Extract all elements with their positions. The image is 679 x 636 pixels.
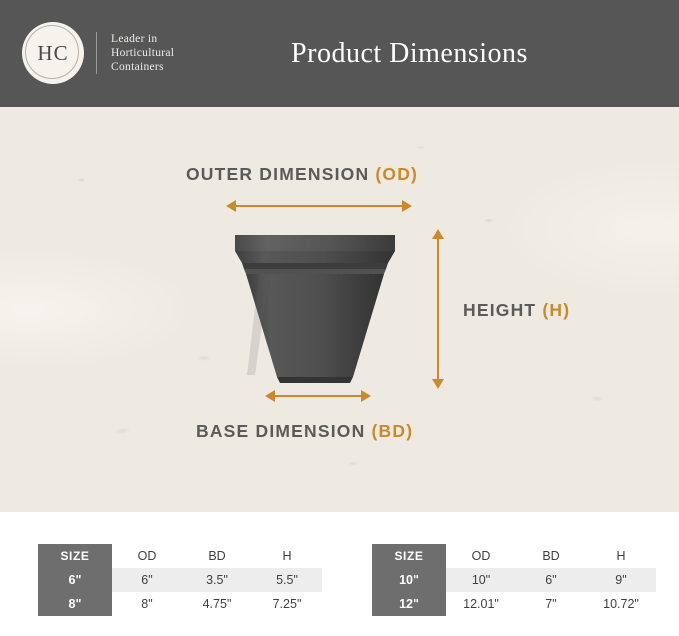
cell-bd: 6": [516, 568, 586, 592]
table-body: 6" 6" 3.5" 5.5" 8" 8" 4.75" 7.25": [38, 568, 322, 616]
header-h: H: [252, 544, 322, 568]
page-title: Product Dimensions: [0, 0, 679, 107]
cell-bd: 3.5": [182, 568, 252, 592]
label-base-dimension: BASE DIMENSION (BD): [196, 421, 413, 442]
label-height-abbr: (H): [542, 300, 570, 320]
cell-h: 9": [586, 568, 656, 592]
arrow-height-icon: [437, 238, 439, 380]
page-header: HC Leader in Horticultural Containers Pr…: [0, 0, 679, 107]
label-base-dimension-abbr: (BD): [372, 421, 414, 441]
table-row: 6" 6" 3.5" 5.5": [38, 568, 322, 592]
cell-size: 12": [372, 592, 446, 616]
table-head: SIZE OD BD H: [372, 544, 656, 568]
label-outer-dimension: OUTER DIMENSION (OD): [186, 164, 418, 185]
header-od: OD: [112, 544, 182, 568]
table-row: 8" 8" 4.75" 7.25": [38, 592, 322, 616]
label-outer-dimension-text: OUTER DIMENSION: [186, 164, 369, 184]
arrow-base-dimension-icon: [274, 395, 362, 397]
cell-size: 10": [372, 568, 446, 592]
dimension-tables: SIZE OD BD H 6" 6" 3.5" 5.5" 8" 8" 4.75": [0, 512, 679, 636]
cell-od: 6": [112, 568, 182, 592]
table-header-row: SIZE OD BD H: [372, 544, 656, 568]
cell-bd: 7": [516, 592, 586, 616]
planter-illustration-icon: [225, 225, 405, 385]
header-od: OD: [446, 544, 516, 568]
label-height: HEIGHT (H): [463, 300, 570, 321]
table-body: 10" 10" 6" 9" 12" 12.01" 7" 10.72": [372, 568, 656, 616]
cell-size: 6": [38, 568, 112, 592]
table-header-row: SIZE OD BD H: [38, 544, 322, 568]
cell-bd: 4.75": [182, 592, 252, 616]
cell-size: 8": [38, 592, 112, 616]
cell-h: 5.5": [252, 568, 322, 592]
arrow-outer-dimension-icon: [235, 205, 403, 207]
label-outer-dimension-abbr: (OD): [375, 164, 418, 184]
table-large-sizes: SIZE OD BD H 10" 10" 6" 9" 12" 12.01" 7": [372, 544, 656, 616]
header-h: H: [586, 544, 656, 568]
header-size: SIZE: [372, 544, 446, 568]
product-dimensions-page: HC Leader in Horticultural Containers Pr…: [0, 0, 679, 636]
cell-od: 8": [112, 592, 182, 616]
table-small-sizes: SIZE OD BD H 6" 6" 3.5" 5.5" 8" 8" 4.75": [38, 544, 322, 616]
label-base-dimension-text: BASE DIMENSION: [196, 421, 365, 441]
header-bd: BD: [182, 544, 252, 568]
header-bd: BD: [516, 544, 586, 568]
cell-h: 10.72": [586, 592, 656, 616]
header-size: SIZE: [38, 544, 112, 568]
dimension-diagram: OUTER DIMENSION (OD) BASE DIMENSION (BD)…: [0, 107, 679, 512]
table-row: 10" 10" 6" 9": [372, 568, 656, 592]
label-height-text: HEIGHT: [463, 300, 536, 320]
table-row: 12" 12.01" 7" 10.72": [372, 592, 656, 616]
cell-od: 10": [446, 568, 516, 592]
cell-h: 7.25": [252, 592, 322, 616]
table-head: SIZE OD BD H: [38, 544, 322, 568]
cell-od: 12.01": [446, 592, 516, 616]
